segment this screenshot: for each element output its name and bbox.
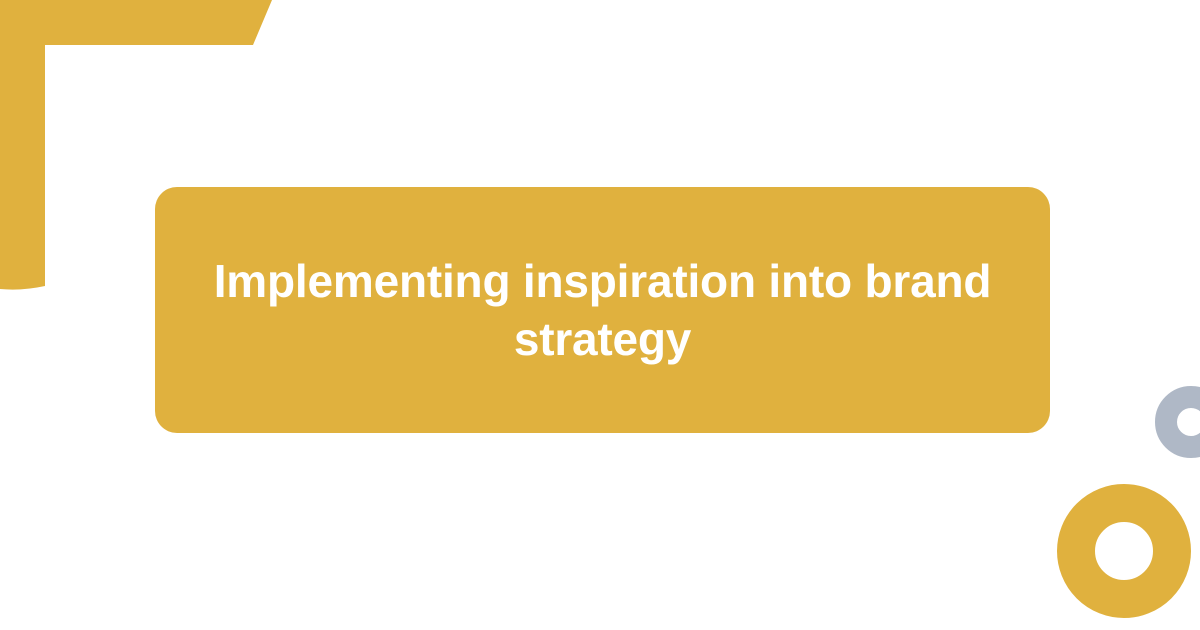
gray-ring-decoration [1155,386,1200,458]
social-card-canvas: Implementing inspiration into brand stra… [0,0,1200,630]
yellow-ring-decoration [1057,484,1191,618]
page-title: Implementing inspiration into brand stra… [181,252,1024,368]
title-card: Implementing inspiration into brand stra… [155,187,1050,433]
